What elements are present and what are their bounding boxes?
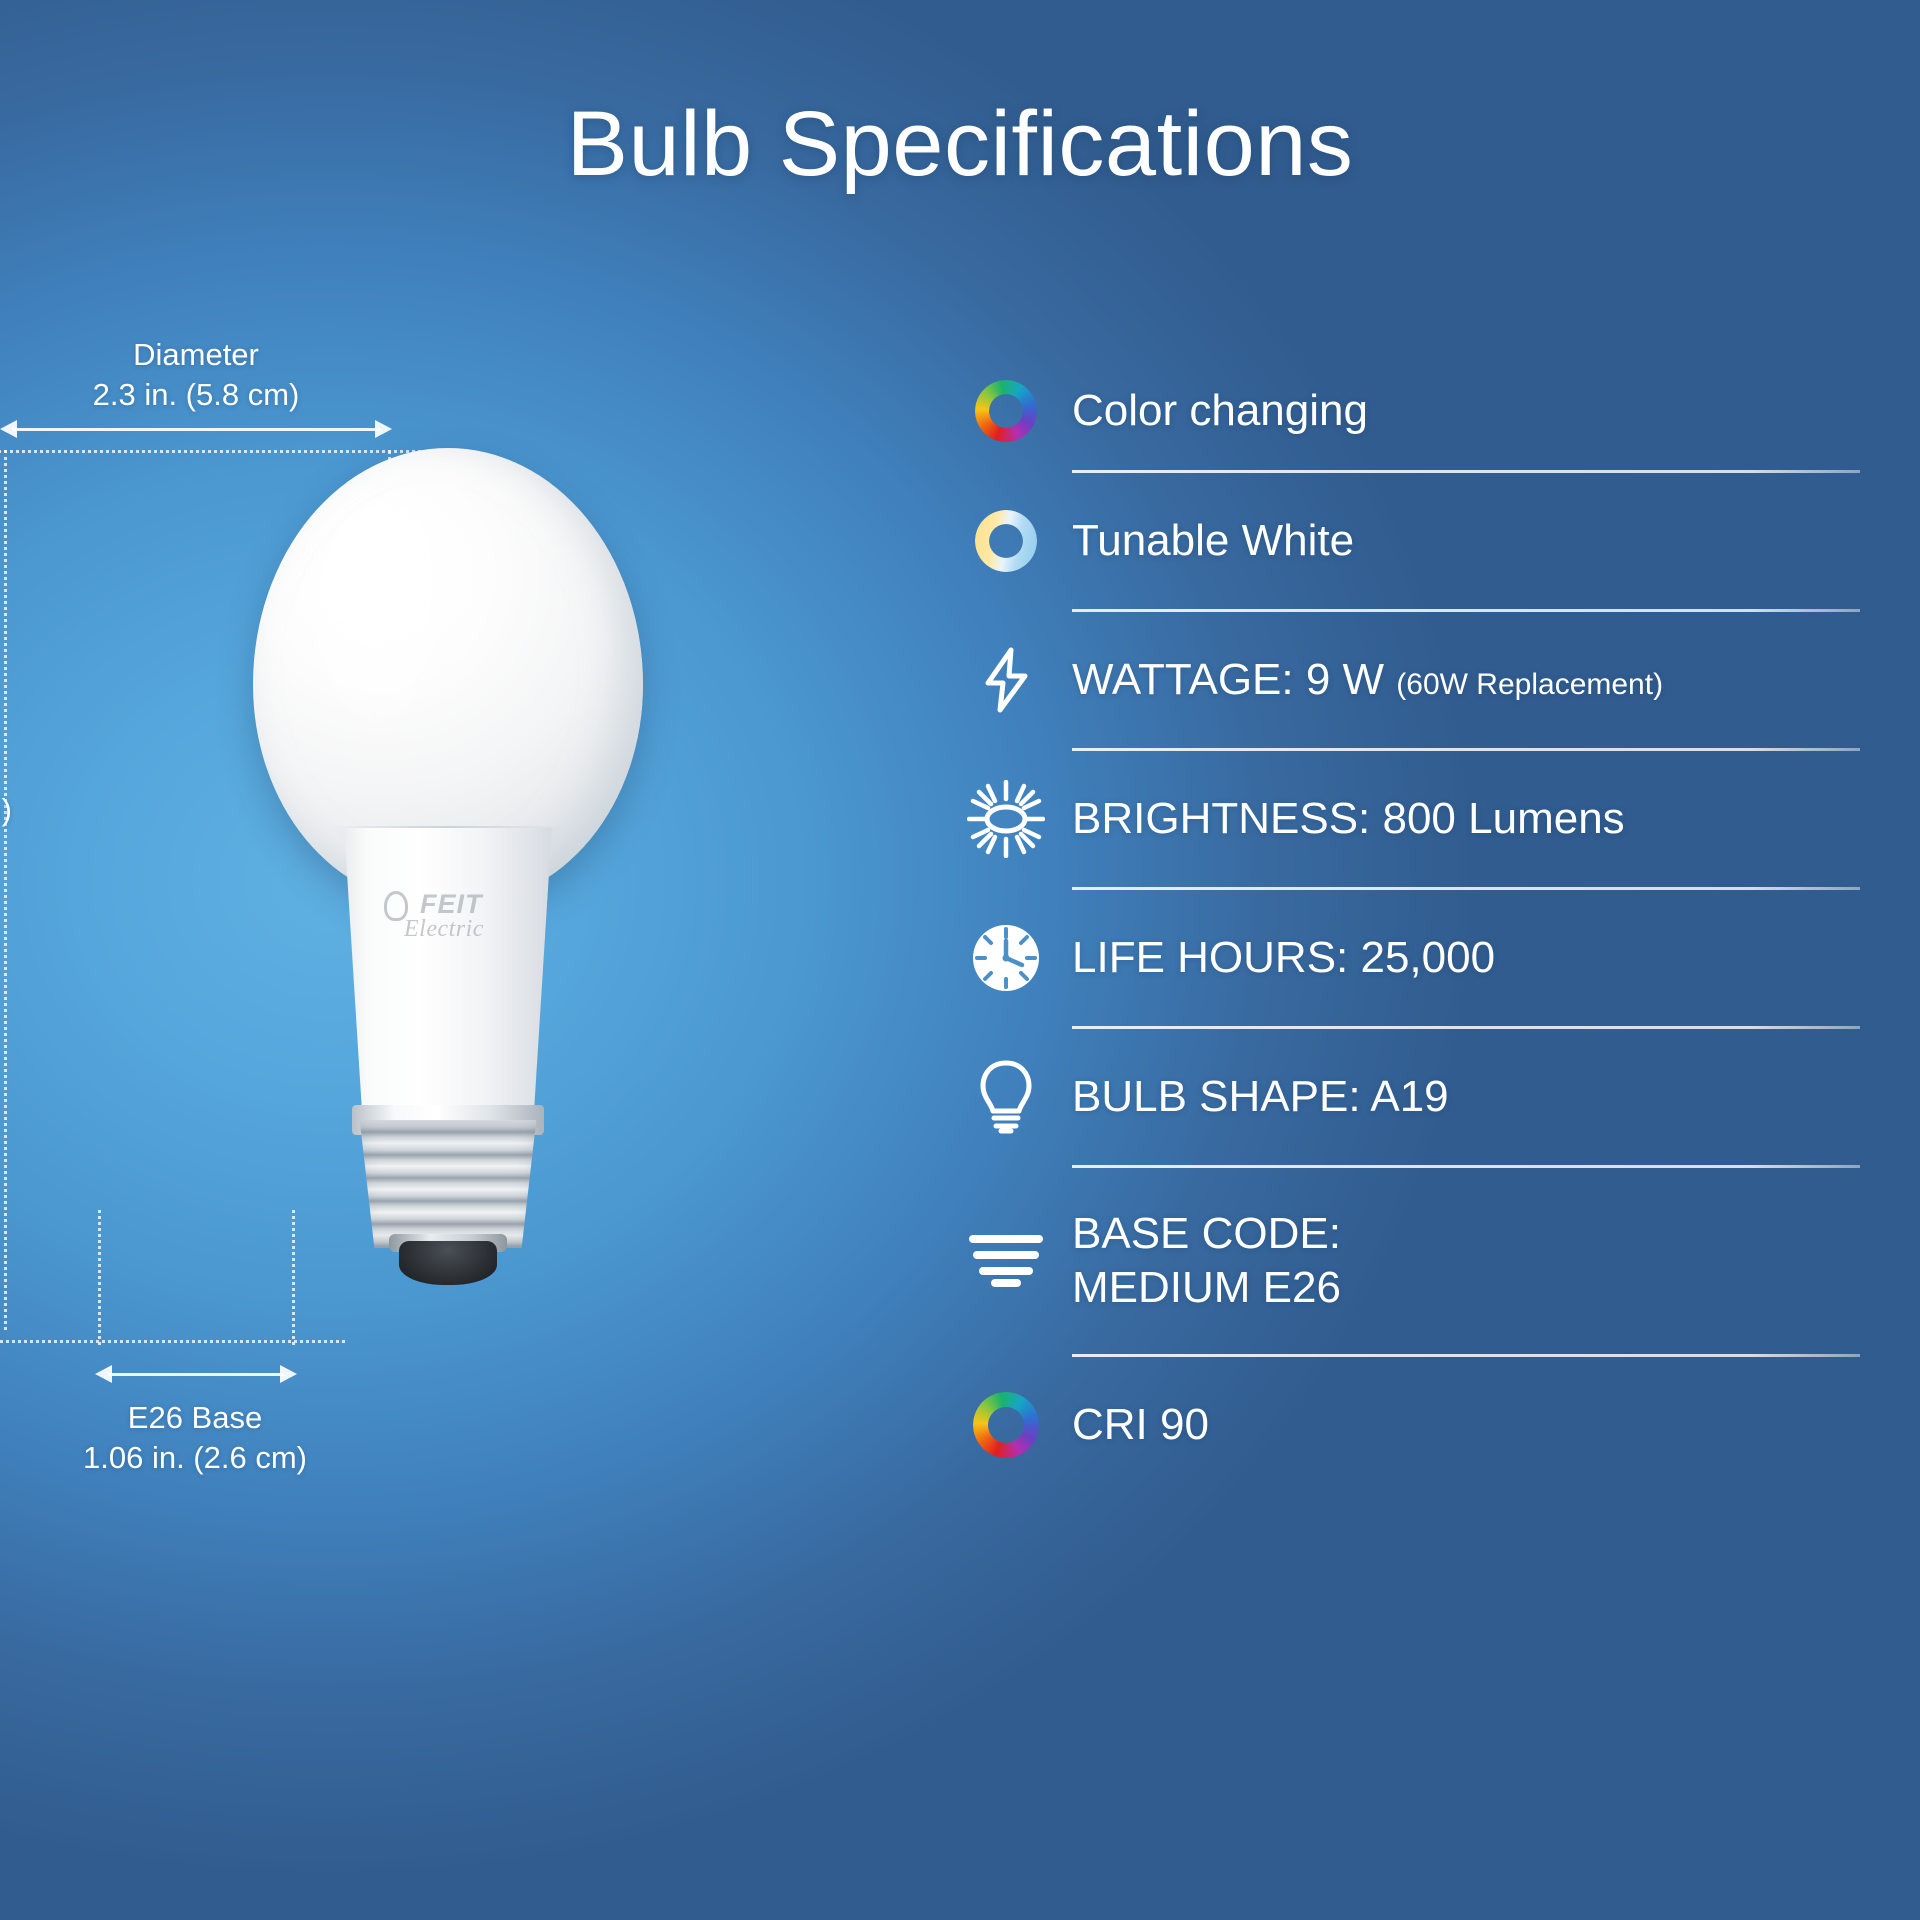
spec-label-cri: CRI 90 (1072, 1398, 1209, 1452)
spec-row-cri[interactable]: CRI 90 (940, 1357, 1860, 1493)
base-measure-line (108, 1373, 284, 1376)
spec-label-wattage: WATTAGE: 9 W (60W Replacement) (1072, 653, 1663, 707)
diameter-label-value: 2.3 in. (5.8 cm) (93, 377, 300, 412)
base-label: E26 Base 1.06 in. (2.6 cm) (40, 1398, 350, 1477)
base-code-line1: BASE CODE: (1072, 1209, 1341, 1258)
spec-label-base-code: BASE CODE: MEDIUM E26 (1072, 1207, 1341, 1314)
base-label-title: E26 Base (128, 1400, 262, 1435)
guide-diameter-left (4, 450, 7, 1330)
logo-electric-text: Electric (404, 917, 484, 941)
lightning-bolt-icon (940, 647, 1072, 713)
color-wheel-icon (940, 380, 1072, 442)
cri-color-wheel-icon (940, 1392, 1072, 1458)
logo-feit-text: FEIT (420, 891, 483, 918)
infographic-canvas: Bulb Specifications Diameter 2.3 in. (5.… (0, 0, 1920, 1920)
sun-brightness-icon (940, 780, 1072, 858)
spec-row-base-code[interactable]: BASE CODE: MEDIUM E26 (940, 1168, 1860, 1354)
spec-row-life-hours[interactable]: LIFE HOURS: 25,000 (940, 890, 1860, 1026)
spec-row-wattage[interactable]: WATTAGE: 9 W (60W Replacement) (940, 612, 1860, 748)
spec-row-tunable-white[interactable]: Tunable White (940, 473, 1860, 609)
diameter-measure-line (12, 428, 380, 431)
wattage-sub: (60W Replacement) (1396, 668, 1663, 701)
base-arrow-right (280, 1365, 297, 1383)
wattage-main: WATTAGE: 9 W (1072, 655, 1384, 704)
specification-list: Color changing Tunable White WATTAGE: 9 … (940, 352, 1860, 1493)
diameter-label: Diameter 2.3 in. (5.8 cm) (0, 335, 392, 414)
tunable-white-icon (940, 510, 1072, 572)
bulb-dimension-diagram: Diameter 2.3 in. (5.8 cm) Height 4.2 in.… (0, 330, 880, 1660)
spec-label-life-hours: LIFE HOURS: 25,000 (1072, 931, 1495, 985)
diameter-arrow-left (0, 420, 17, 438)
spec-label-color-changing: Color changing (1072, 384, 1368, 438)
diameter-arrow-right (375, 420, 392, 438)
height-label: Height 4.2 in. (10.6 cm) (0, 750, 50, 829)
guide-base-left (98, 1210, 101, 1345)
spec-label-tunable-white: Tunable White (1072, 514, 1354, 568)
spec-label-bulb-shape: BULB SHAPE: A19 (1072, 1070, 1449, 1124)
bulb-shape-icon (940, 1059, 1072, 1135)
height-label-value: 4.2 in. (10.6 cm) (0, 792, 12, 827)
bulb-tip-contact (399, 1241, 497, 1285)
bulb-neck (330, 828, 566, 1128)
clock-icon (940, 921, 1072, 995)
spec-row-bulb-shape[interactable]: BULB SHAPE: A19 (940, 1029, 1860, 1165)
diameter-label-title: Diameter (133, 337, 259, 372)
base-label-value: 1.06 in. (2.6 cm) (83, 1440, 307, 1475)
bulb-highlight (311, 500, 461, 730)
spec-label-brightness: BRIGHTNESS: 800 Lumens (1072, 792, 1625, 846)
light-bulb-image: FEIT Electric (253, 448, 643, 1288)
page-title: Bulb Specifications (0, 92, 1920, 197)
spec-row-color-changing[interactable]: Color changing (940, 352, 1860, 470)
base-code-icon (940, 1231, 1072, 1291)
feit-electric-logo: FEIT Electric (384, 889, 520, 953)
base-arrow-left (95, 1365, 112, 1383)
bulb-screw-threads (356, 1120, 540, 1248)
spec-row-brightness[interactable]: BRIGHTNESS: 800 Lumens (940, 751, 1860, 887)
base-code-line2: MEDIUM E26 (1072, 1263, 1341, 1312)
